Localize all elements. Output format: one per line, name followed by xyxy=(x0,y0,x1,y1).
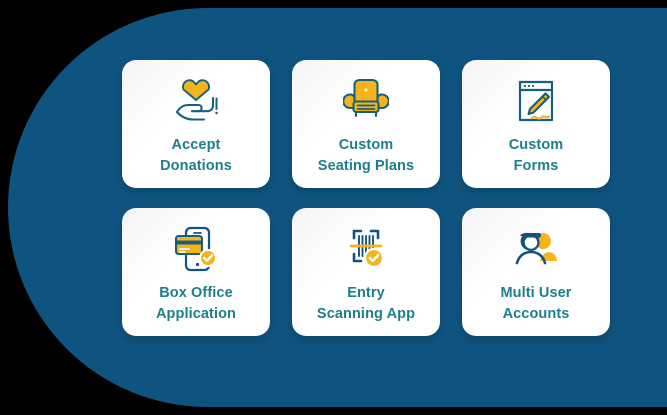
feature-card-label: Custom Forms xyxy=(503,135,570,176)
feature-card-custom-forms[interactable]: Custom Forms xyxy=(462,60,610,188)
barcode-scan-check-icon xyxy=(341,223,391,275)
feature-card-box-office-application[interactable]: Box Office Application xyxy=(122,208,270,336)
feature-card-label: Box Office Application xyxy=(150,283,242,324)
feature-card-accept-donations[interactable]: Accept Donations xyxy=(122,60,270,188)
feature-card-label: Multi User Accounts xyxy=(494,283,577,324)
phone-card-check-icon xyxy=(171,223,221,275)
label-line-2: Seating Plans xyxy=(318,156,414,177)
feature-grid-panel: Accept Donations Custom xyxy=(0,0,667,415)
feature-card-label: Entry Scanning App xyxy=(311,283,421,324)
label-line-2: Donations xyxy=(160,156,232,177)
two-users-icon xyxy=(512,223,560,275)
label-line-1: Box Office xyxy=(159,285,233,301)
label-line-1: Multi User xyxy=(500,285,571,301)
heart-in-hand-icon xyxy=(171,75,221,127)
form-pen-icon xyxy=(514,75,558,127)
label-line-2: Application xyxy=(156,304,236,325)
label-line-1: Entry xyxy=(347,285,385,301)
feature-card-entry-scanning-app[interactable]: Entry Scanning App xyxy=(292,208,440,336)
label-line-2: Forms xyxy=(509,156,564,177)
label-line-2: Accounts xyxy=(500,304,571,325)
feature-card-label: Accept Donations xyxy=(154,135,238,176)
label-line-2: Scanning App xyxy=(317,304,415,325)
label-line-1: Custom xyxy=(509,137,564,153)
feature-card-grid: Accept Donations Custom xyxy=(122,60,611,336)
feature-card-custom-seating-plans[interactable]: Custom Seating Plans xyxy=(292,60,440,188)
armchair-icon xyxy=(343,75,389,127)
feature-card-label: Custom Seating Plans xyxy=(312,135,420,176)
feature-card-multi-user-accounts[interactable]: Multi User Accounts xyxy=(462,208,610,336)
label-line-1: Accept xyxy=(172,137,221,153)
label-line-1: Custom xyxy=(339,137,394,153)
